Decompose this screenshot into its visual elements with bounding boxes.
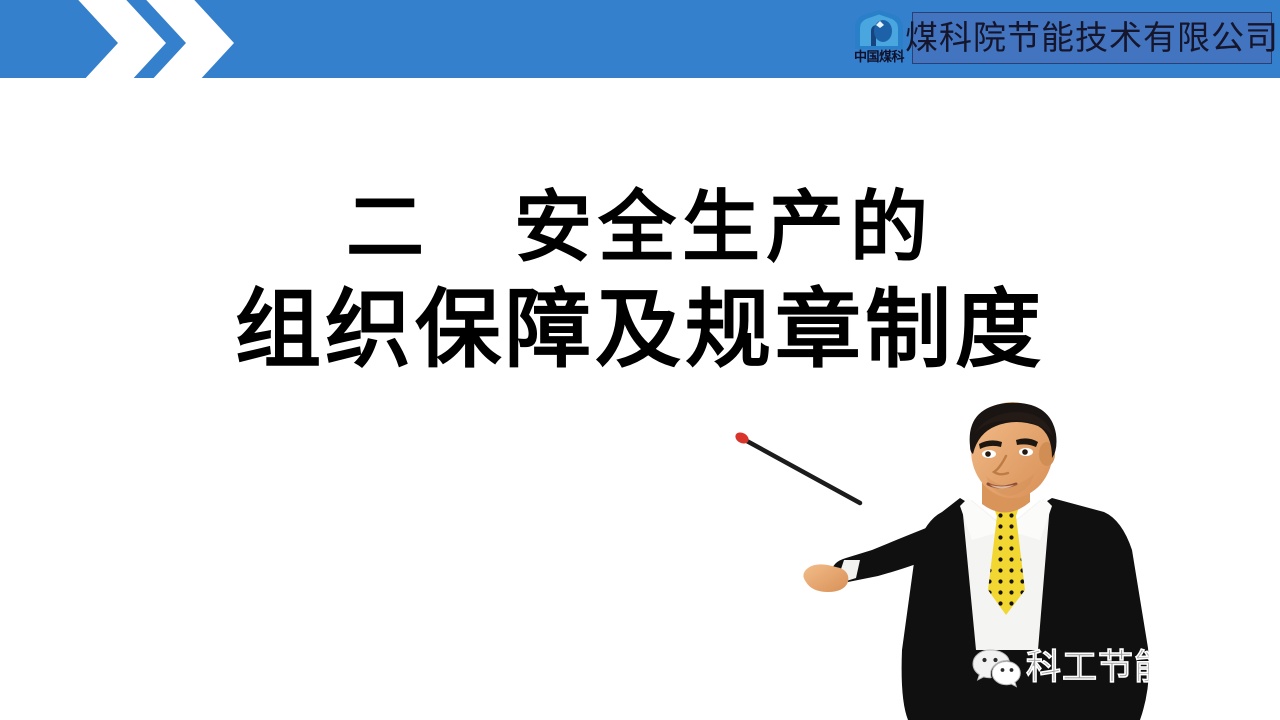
company-name-box: 煤科院节能技术有限公司 (912, 12, 1272, 64)
wechat-watermark: 科工节能安全 (972, 643, 1242, 693)
watermark-text: 科工节能安全 (1026, 648, 1242, 688)
wechat-icon (972, 646, 1022, 690)
slide-title-line-1: 二 安全生产的 (0, 178, 1280, 278)
slide-header-bar: 中国煤科 煤科院节能技术有限公司 (0, 0, 1280, 78)
company-name-text: 煤科院节能技术有限公司 (905, 20, 1279, 56)
slide-title: 二 安全生产的 组织保障及规章制度 (0, 178, 1280, 382)
slide-canvas: 中国煤科 煤科院节能技术有限公司 二 安全生产的 组织保障及规章制度 (0, 0, 1280, 720)
pointer-stick-icon (733, 430, 860, 503)
chevron-arrows-icon (48, 0, 248, 78)
china-coal-logo-icon (849, 9, 909, 51)
slide-title-line-2: 组织保障及规章制度 (0, 278, 1280, 382)
